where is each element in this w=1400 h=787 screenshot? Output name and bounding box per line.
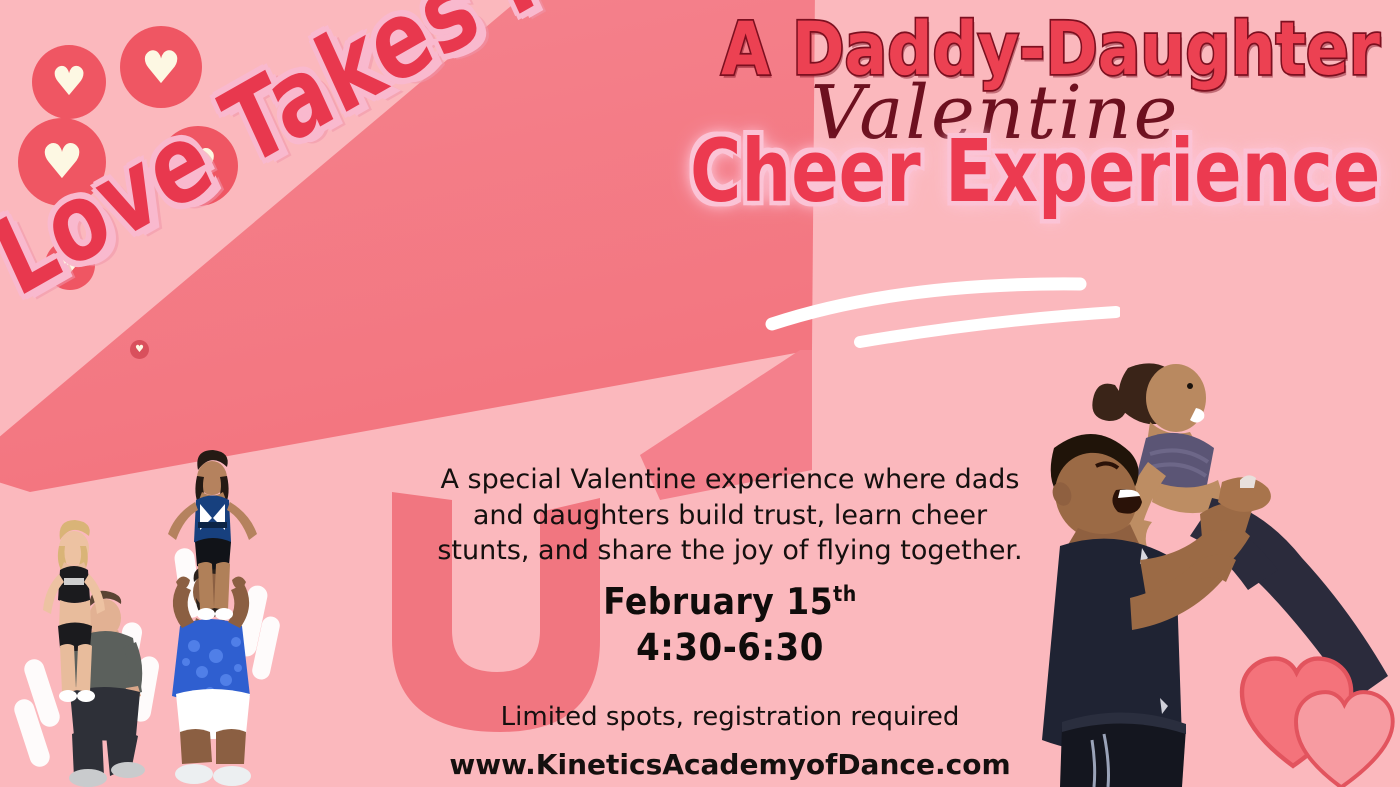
heart-icon: ♥ bbox=[51, 62, 87, 102]
valentine-cheer-flyer: ♥ ♥ ♥ ♥ ♥ ♥ A Daddy-Daughter Valentine C… bbox=[0, 0, 1400, 787]
title-line-cheer-experience: Cheer Experience bbox=[690, 128, 1380, 215]
website-url[interactable]: www.KineticsAcademyofDance.com bbox=[400, 748, 1060, 781]
megaphone-mini-heart: ♥ bbox=[130, 340, 149, 359]
description-text: A special Valentine experience where dad… bbox=[430, 462, 1030, 569]
event-time: 4:30-6:30 bbox=[430, 626, 1030, 670]
left-photo-group bbox=[10, 440, 295, 787]
heart-badge-1: ♥ bbox=[32, 45, 106, 119]
title-line-cheer-wrap: Cheer Experience bbox=[690, 136, 1380, 206]
description-line-2: and daughters build trust, learn cheer bbox=[430, 498, 1030, 534]
title-block: A Daddy-Daughter Valentine Cheer Experie… bbox=[690, 18, 1380, 206]
description-line-3: stunts, and share the joy of flying toge… bbox=[430, 533, 1030, 569]
event-date-text: February 15 bbox=[603, 580, 833, 623]
heart-icon: ♥ bbox=[135, 345, 144, 355]
heart-icon: ♥ bbox=[141, 45, 181, 90]
limited-spots-note: Limited spots, registration required bbox=[400, 702, 1060, 732]
event-date-ordinal: th bbox=[833, 582, 857, 606]
title-line-daddy-daughter: A Daddy-Daughter bbox=[676, 12, 1380, 85]
double-hearts-icon bbox=[1238, 655, 1398, 787]
event-date: February 15th bbox=[430, 580, 1030, 623]
description-line-1: A special Valentine experience where dad… bbox=[430, 462, 1030, 498]
